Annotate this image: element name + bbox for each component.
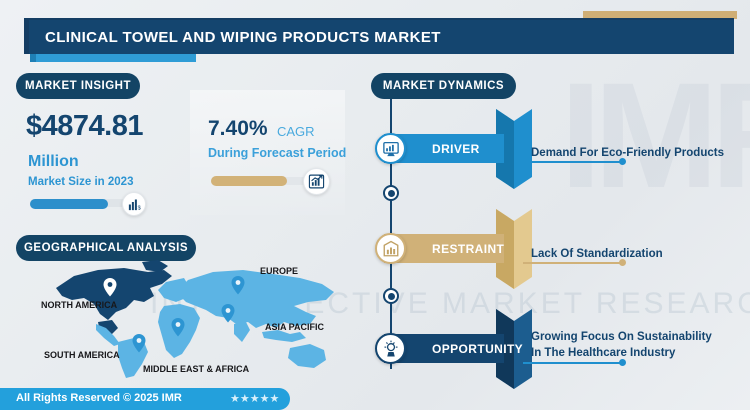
bar-chart-dollar-icon: $ bbox=[122, 192, 146, 216]
dynamics-node-dot-2 bbox=[383, 288, 399, 304]
region-label-asia-pacific: ASIA PACIFIC bbox=[265, 322, 324, 332]
market-size-caption: Market Size in 2023 bbox=[28, 176, 133, 188]
cagr-value: 7.40% bbox=[208, 117, 268, 141]
market-size-progress-fill bbox=[30, 199, 108, 209]
page-title: CLINICAL TOWEL AND WIPING PRODUCTS MARKE… bbox=[29, 29, 441, 46]
footer-copyright: All Rights Reserved © 2025 IMR bbox=[16, 392, 182, 404]
dynamics-text-opportunity: Growing Focus On Sustainability In The H… bbox=[531, 329, 712, 361]
growth-chart-icon bbox=[303, 168, 330, 195]
opportunity-connector-line bbox=[523, 362, 623, 364]
dynamics-node-dot-1 bbox=[383, 185, 399, 201]
region-label-europe: EUROPE bbox=[260, 266, 298, 276]
svg-text:$: $ bbox=[137, 205, 141, 211]
restraint-connector-line bbox=[523, 262, 623, 264]
lightbulb-icon bbox=[375, 333, 406, 364]
page-title-bar: CLINICAL TOWEL AND WIPING PRODUCTS MARKE… bbox=[29, 20, 734, 54]
map-pins bbox=[38, 258, 358, 380]
cagr-progress-fill bbox=[211, 176, 287, 186]
cagr-label: CAGR bbox=[277, 124, 315, 139]
dynamics-text-driver: Demand For Eco-Friendly Products bbox=[531, 145, 724, 161]
monitor-chart-icon bbox=[375, 133, 406, 164]
dynamics-text-restraint: Lack Of Standardization bbox=[531, 246, 663, 262]
market-size-unit: Million bbox=[28, 153, 79, 171]
market-dynamics-pill: MARKET DYNAMICS bbox=[371, 73, 516, 99]
cagr-subtitle: During Forecast Period bbox=[208, 146, 346, 160]
region-label-north-america: NORTH AMERICA bbox=[41, 300, 117, 310]
footer-rating-stars: ★★★★★ bbox=[230, 392, 279, 405]
driver-connector-line bbox=[523, 161, 623, 163]
market-insight-pill: MARKET INSIGHT bbox=[16, 73, 140, 99]
market-size-value: $4874.81 bbox=[26, 110, 143, 143]
infographic-page: IMR INTROSPECTIVE MARKET RESEARCH CLINIC… bbox=[0, 0, 750, 410]
region-label-south-america: SOUTH AMERICA bbox=[44, 350, 120, 360]
region-label-mea: MIDDLE EAST & AFRICA bbox=[143, 364, 249, 374]
bar-chart-icon bbox=[375, 233, 406, 264]
dynamics-text-opportunity-line2: In The Healthcare Industry bbox=[531, 345, 712, 361]
title-underline bbox=[36, 54, 196, 62]
dynamics-text-opportunity-line1: Growing Focus On Sustainability bbox=[531, 329, 712, 345]
